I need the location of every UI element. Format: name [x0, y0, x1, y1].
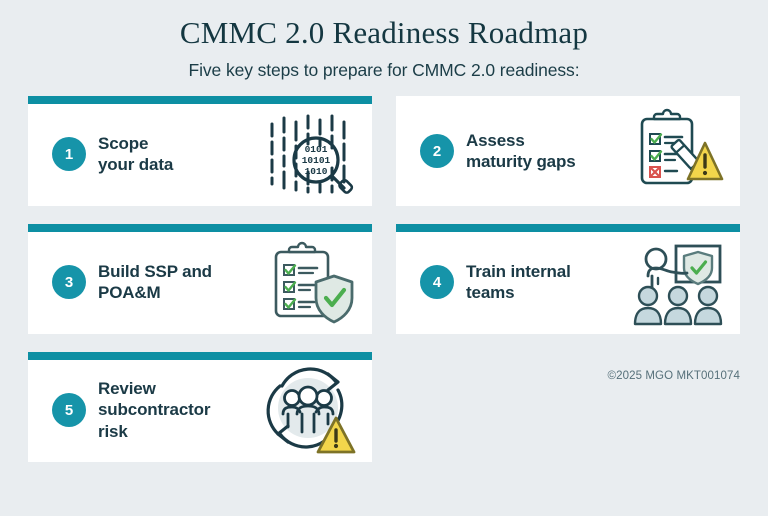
steps-row-3: 5 Review subcontractor risk	[28, 352, 740, 462]
step-title-line: Train internal	[466, 261, 626, 282]
step-title-line: Scope	[98, 133, 258, 154]
step-title-line: maturity gaps	[466, 151, 626, 172]
step-title-line: Review	[98, 378, 258, 399]
step-card-5[interactable]: 5 Review subcontractor risk	[28, 352, 372, 462]
presenter-audience-shield-icon	[630, 236, 726, 328]
steps-row-1: 1 Scope your data	[28, 96, 740, 206]
step-title-4: Train internal teams	[466, 261, 630, 304]
step-title-line: teams	[466, 282, 626, 303]
card-accent-bar	[28, 224, 372, 232]
step-card-3[interactable]: 3 Build SSP and POA&M	[28, 224, 372, 334]
step-card-4[interactable]: 4 Train internal teams	[396, 224, 740, 334]
header: CMMC 2.0 Readiness Roadmap Five key step…	[0, 0, 768, 81]
clipboard-pencil-warning-icon	[630, 105, 726, 197]
svg-text:0101: 0101	[305, 144, 328, 155]
step-number-badge-1: 1	[52, 137, 86, 171]
card-accent-bar	[28, 352, 372, 360]
step-number-badge-5: 5	[52, 393, 86, 427]
step-title-5: Review subcontractor risk	[98, 378, 262, 442]
card-accent-bar	[396, 224, 740, 232]
svg-text:10101: 10101	[302, 155, 331, 166]
step-card-2[interactable]: 2 Assess maturity gaps	[396, 96, 740, 206]
step-title-line: subcontractor	[98, 399, 258, 420]
step-title-line: POA&M	[98, 282, 258, 303]
page-title: CMMC 2.0 Readiness Roadmap	[0, 14, 768, 51]
step-title-3: Build SSP and POA&M	[98, 261, 262, 304]
card-accent-bar	[28, 96, 372, 104]
step-number-badge-2: 2	[420, 134, 454, 168]
step-number-badge-3: 3	[52, 265, 86, 299]
people-cycle-warning-icon	[262, 364, 358, 456]
step-title-line: Assess	[466, 130, 626, 151]
step-title-line: Build SSP and	[98, 261, 258, 282]
step-title-line: your data	[98, 154, 258, 175]
step-title-1: Scope your data	[98, 133, 262, 176]
page-subtitle: Five key steps to prepare for CMMC 2.0 r…	[0, 60, 768, 81]
step-title-line: risk	[98, 421, 258, 442]
copyright-text: ©2025 MGO MKT001074	[608, 370, 740, 382]
binary-magnifier-icon: 0101 10101 1010	[262, 108, 358, 200]
step-title-2: Assess maturity gaps	[466, 130, 630, 173]
step-card-1[interactable]: 1 Scope your data	[28, 96, 372, 206]
step-number-badge-4: 4	[420, 265, 454, 299]
steps-grid: 1 Scope your data	[28, 96, 740, 480]
steps-row-2: 3 Build SSP and POA&M	[28, 224, 740, 334]
clipboard-shield-check-icon	[262, 236, 358, 328]
svg-text:1010: 1010	[305, 166, 328, 177]
